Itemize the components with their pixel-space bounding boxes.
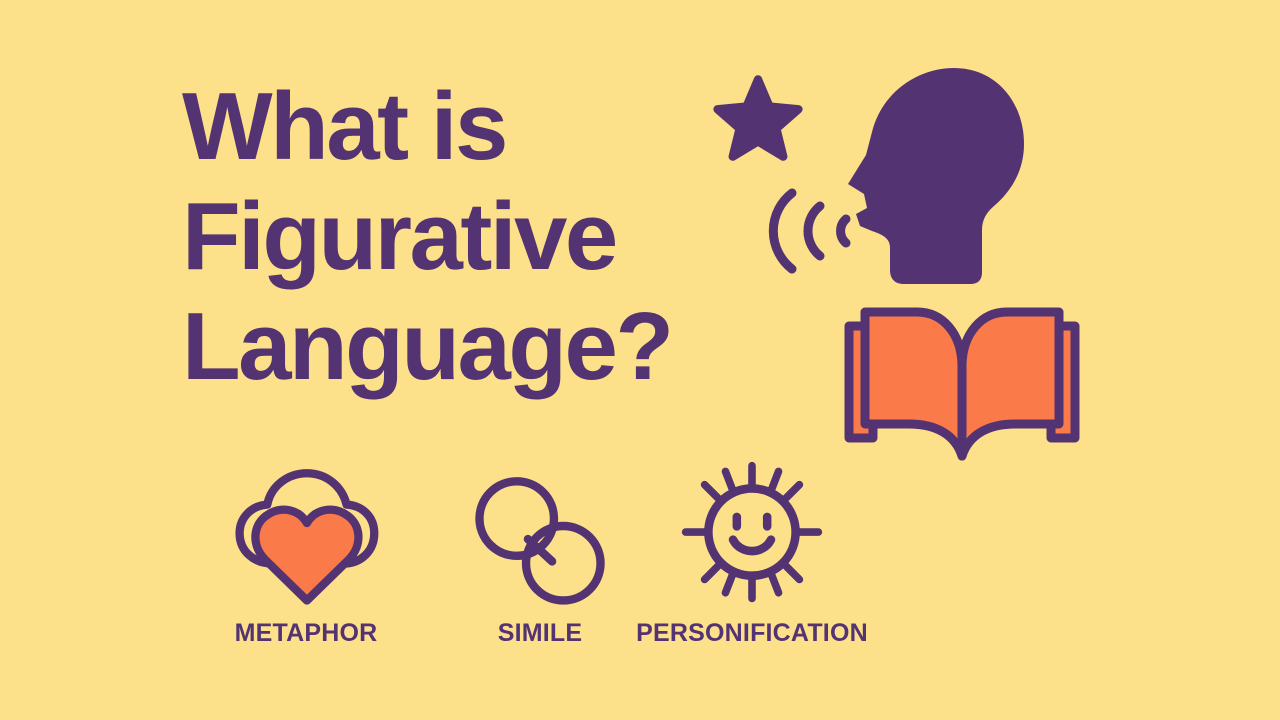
cloud-heart-icon <box>206 452 406 607</box>
title-line-2: Figurative <box>182 182 802 292</box>
concept-item-personification: PERSONIFICATION <box>620 452 884 648</box>
concept-label-personification: PERSONIFICATION <box>620 619 884 648</box>
smiling-sun-icon <box>620 452 884 607</box>
title-line-3: Language? <box>182 292 802 402</box>
figurative-language-poster: What is Figurative Language? <box>0 0 1280 720</box>
two-linked-circles-icon <box>466 452 614 607</box>
concept-label-metaphor: METAPHOR <box>206 619 406 648</box>
speaking-head-icon <box>768 58 1030 298</box>
title-line-1: What is <box>182 72 802 182</box>
concept-label-simile: SIMILE <box>466 619 614 648</box>
concept-item-metaphor: METAPHOR <box>206 452 406 648</box>
open-book-icon <box>843 298 1081 470</box>
page-title: What is Figurative Language? <box>182 72 802 402</box>
concept-item-simile: SIMILE <box>466 452 614 648</box>
